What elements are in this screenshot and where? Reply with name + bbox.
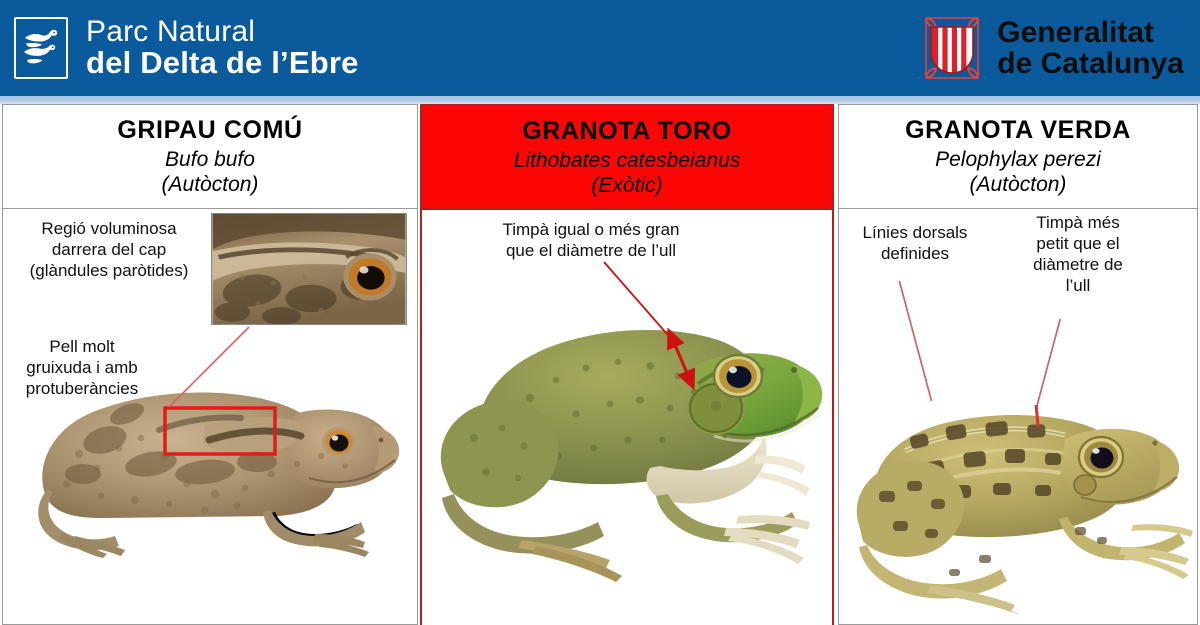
species-origin: (Exòtic) [591,174,662,198]
species-origin: (Autòcton) [970,173,1067,197]
generalitat-title: Generalitat de Catalunya [997,17,1184,79]
annotation-line: Timpà més [1015,213,1141,234]
annotation-line: l’ull [1015,276,1141,297]
annotation-line: (glàndules paròtides) [9,261,209,282]
annotation-line: Timpà igual o més gran [466,220,716,241]
species-latin-name: Bufo bufo [165,148,255,172]
annotation-parotid-gland: Regió voluminosa darrera del cap (glàndu… [9,219,209,282]
toad-head-parotid-gland-closeup [211,213,407,325]
header-divider [0,96,1200,104]
species-comparison-board: GRIPAU COMÚ Bufo bufo (Autòcton) [0,104,1200,625]
annotation-line: definides [847,244,983,265]
perez-green-frog-photo [849,379,1195,614]
species-body-gripau-comu: Regió voluminosa darrera del cap (glàndu… [3,209,417,624]
park-brand: Parc Natural del Delta de l’Ebre [0,16,359,79]
generalitat-line2: de Catalunya [997,48,1184,79]
park-title: Parc Natural del Delta de l’Ebre [86,16,359,79]
species-body-granota-verda: Línies dorsals definides Timpà més petit… [839,209,1197,624]
species-header-gripau-comu: GRIPAU COMÚ Bufo bufo (Autòcton) [3,105,417,209]
annotation-line: diàmetre de [1015,255,1141,276]
page-header: Parc Natural del Delta de l’Ebre [0,0,1200,96]
species-header-granota-toro: GRANOTA TORO Lithobates catesbeianus (Ex… [422,106,832,210]
species-common-name: GRANOTA VERDA [905,116,1131,145]
species-common-name: GRANOTA TORO [522,117,732,146]
species-latin-name: Lithobates catesbeianus [514,149,741,173]
annotation-line: protuberàncies [7,379,157,400]
annotation-line: Pell molt [7,337,157,358]
annotation-line: petit que el [1015,234,1141,255]
park-title-line2: del Delta de l’Ebre [86,47,359,79]
species-common-name: GRIPAU COMÚ [117,116,302,145]
species-column-granota-verda: GRANOTA VERDA Pelophylax perezi (Autòcto… [838,104,1198,625]
annotation-line: darrera del cap [9,240,209,261]
catalan-senyera-shield-icon [923,15,981,81]
species-body-granota-toro: Timpà igual o més gran que el diàmetre d… [422,210,832,625]
species-origin: (Autòcton) [162,173,259,197]
heron-bird-icon [14,17,68,79]
park-title-line1: Parc Natural [86,16,359,47]
annotation-thick-skin: Pell molt gruixuda i amb protuberàncies [7,337,157,400]
annotation-line: Línies dorsals [847,223,983,244]
annotation-tympanum-large: Timpà igual o més gran que el diàmetre d… [466,220,716,262]
infographic-page: Parc Natural del Delta de l’Ebre [0,0,1200,625]
generalitat-brand: Generalitat de Catalunya [923,15,1200,81]
annotation-line: que el diàmetre de l’ull [466,241,716,262]
american-bullfrog-photo [426,288,830,598]
annotation-line: gruixuda i amb [7,358,157,379]
generalitat-line1: Generalitat [997,17,1184,48]
annotation-dorsal-lines: Línies dorsals definides [847,223,983,265]
species-latin-name: Pelophylax perezi [935,148,1101,172]
species-column-granota-toro: GRANOTA TORO Lithobates catesbeianus (Ex… [420,104,834,625]
species-header-granota-verda: GRANOTA VERDA Pelophylax perezi (Autòcto… [839,105,1197,209]
species-column-gripau-comu: GRIPAU COMÚ Bufo bufo (Autòcton) [2,104,418,625]
annotation-tympanum-small: Timpà més petit que el diàmetre de l’ull [1015,213,1141,297]
annotation-line: Regió voluminosa [9,219,209,240]
